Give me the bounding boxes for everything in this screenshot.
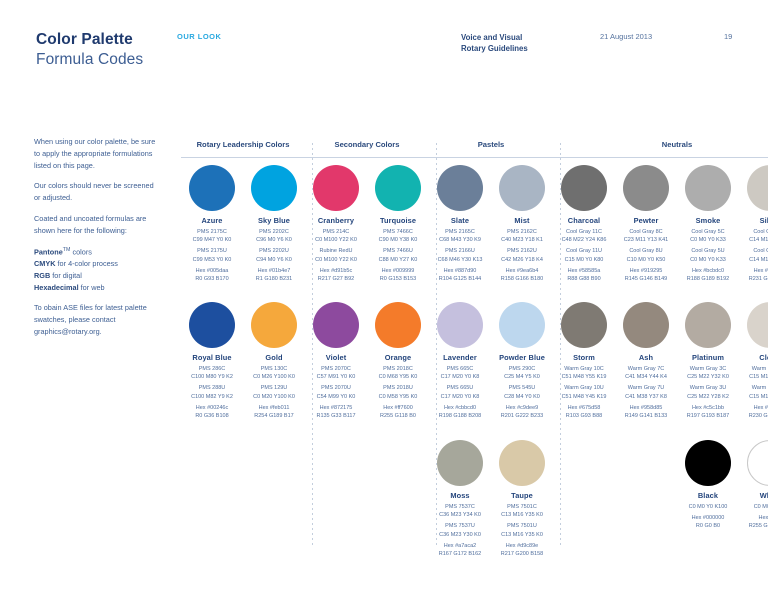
swatch-name-smoke: Smoke — [677, 216, 739, 225]
swatch-name-royal-blue: Royal Blue — [181, 353, 243, 362]
swatch-formula-line: Hex #feb011 — [243, 404, 305, 412]
swatch-name-silver: Silver — [739, 216, 768, 225]
swatch-color-circle-pewter — [623, 165, 669, 211]
swatch-formula-line: C68 M43 Y30 K9 — [429, 236, 491, 244]
swatch-formula-line: C25 M4 Y5 K0 — [491, 373, 553, 381]
swatch-formula-line: Hex #01b4e7 — [243, 267, 305, 275]
swatch-name-black: Black — [677, 491, 739, 500]
swatch-formula-line: C41 M34 Y44 K4 — [615, 373, 677, 381]
swatch-platinum: PlatinumWarm Gray 3CC25 M22 Y32 K0Warm G… — [677, 302, 739, 421]
swatch-cloud: CloudWarm Gray 1CC15 M12 Y17 K0Warm Gray… — [739, 302, 768, 421]
group-header-pastels: Pastels — [429, 140, 553, 149]
swatch-formula-line: PMS 545U — [491, 384, 553, 392]
swatch-formula-line: Warm Gray 1U — [739, 384, 768, 392]
swatch-formula-line: C100 M80 Y9 K2 — [181, 373, 243, 381]
swatch-formula-line: Hex #cbbcd0 — [429, 404, 491, 412]
swatch-formula-line: PMS 129U — [243, 384, 305, 392]
swatch-formula-line: Cool Gray 2U — [739, 247, 768, 255]
cmyk-rest: for 4-color process — [56, 259, 118, 268]
pantone-rest: colors — [70, 247, 92, 256]
swatch-formula-line: Hex #ffffff — [739, 514, 768, 522]
swatch-formula-line: R1 G180 B231 — [243, 275, 305, 283]
swatch-name-pewter: Pewter — [615, 216, 677, 225]
sidebar-paragraph-4: To obain ASE files for latest palette sw… — [34, 302, 162, 337]
swatch-name-violet: Violet — [305, 353, 367, 362]
swatch-formula-line: R197 G193 B187 — [677, 412, 739, 420]
swatch-formula-line: R217 G27 B92 — [305, 275, 367, 283]
swatch-formula-line: Hex #e6e5d8 — [739, 404, 768, 412]
group-rule — [305, 157, 429, 158]
swatch-formula-line: PMS 288U — [181, 384, 243, 392]
swatch-color-circle-sky-blue — [251, 165, 297, 211]
swatch-formula-line: C25 M22 Y28 K2 — [677, 393, 739, 401]
swatch-color-circle-mist — [499, 165, 545, 211]
swatch-formula-line: C14 M10 Y13 K0 — [739, 236, 768, 244]
swatch-formula-line: R230 G229 B216 — [739, 412, 768, 420]
swatch-formula-line: Hex #958d85 — [615, 404, 677, 412]
swatch-formula-line: C36 M23 Y34 K0 — [429, 511, 491, 519]
swatch-formula-line: C23 M11 Y13 K41 — [615, 236, 677, 244]
swatch-formula-line: PMS 7466C — [367, 228, 429, 236]
swatch-name-powder-blue: Powder Blue — [491, 353, 553, 362]
swatch-ash: AshWarm Gray 7CC41 M34 Y44 K4Warm Gray 7… — [615, 302, 677, 421]
swatch-formula-line: Hex #58585a — [553, 267, 615, 275]
swatch-formula-line: R167 G172 B162 — [429, 550, 491, 558]
swatch-formula-line: R104 G125 B144 — [429, 275, 491, 283]
swatch-color-circle-ash — [623, 302, 669, 348]
swatch-color-circle-white — [747, 440, 768, 486]
swatch-formula-line: PMS 130C — [243, 365, 305, 373]
swatch-formula-line: C96 M0 Y6 K0 — [243, 236, 305, 244]
swatch-formula-line: Warm Gray 10C — [553, 365, 615, 373]
document-reference-line1: Voice and Visual — [461, 32, 528, 43]
swatch-formula-line: C17 M20 Y0 K8 — [429, 373, 491, 381]
swatch-formula-line: C99 M53 Y0 K0 — [181, 256, 243, 264]
swatch-formula-line: Hex #c5c1bb — [677, 404, 739, 412]
swatch-formula-line: Hex #d91b5c — [305, 267, 367, 275]
swatch-name-taupe: Taupe — [491, 491, 553, 500]
swatch-formula-line: Cool Gray 8U — [615, 247, 677, 255]
swatch-formula-line: R255 G118 B0 — [367, 412, 429, 420]
swatch-formula-line: C13 M16 Y35 K0 — [491, 511, 553, 519]
swatch-formula-line: C0 M58 Y95 K0 — [367, 393, 429, 401]
swatch-formula-line: C15 M0 Y0 K80 — [553, 256, 615, 264]
swatch-formula-line: Warm Gray 1C — [739, 365, 768, 373]
swatch-formula-line: R135 G33 B117 — [305, 412, 367, 420]
swatch-formula-line: C42 M26 Y18 K4 — [491, 256, 553, 264]
swatch-formula-line: Cool Gray 5U — [677, 247, 739, 255]
swatch-formula-line: Hex #000000 — [677, 514, 739, 522]
group-header-rotary-leadership-colors: Rotary Leadership Colors — [181, 140, 305, 149]
swatch-taupe: TaupePMS 7501CC13 M16 Y35 K0PMS 7501UC13… — [491, 440, 553, 559]
swatch-name-cranberry: Cranberry — [305, 216, 367, 225]
swatch-formula-line: PMS 2175U — [181, 247, 243, 255]
swatch-smoke: SmokeCool Gray 5CC0 M0 Y0 K33Cool Gray 5… — [677, 165, 739, 284]
swatch-formula-line: R255 G255 B255 — [739, 522, 768, 530]
swatch-name-azure: Azure — [181, 216, 243, 225]
page-title-line1: Color Palette — [36, 30, 143, 50]
swatch-formula-line: C0 M0 Y0 K100 — [677, 503, 739, 511]
swatch-formula-line: PMS 2018U — [367, 384, 429, 392]
swatch-formula-line: C15 M12 Y17 K0 — [739, 373, 768, 381]
swatch-turquoise: TurquoisePMS 7466CC90 M0 Y38 K0PMS 7466U… — [367, 165, 429, 284]
swatch-formula-line: Warm Gray 3C — [677, 365, 739, 373]
swatch-formula-line: C0 M26 Y100 K0 — [243, 373, 305, 381]
group-rule — [181, 157, 305, 158]
swatch-formula-line: PMS 2202C — [243, 228, 305, 236]
swatch-azure: AzurePMS 2175CC99 M47 Y0 K0PMS 2175UC99 … — [181, 165, 243, 284]
swatch-formula-line: Hex #872175 — [305, 404, 367, 412]
swatch-formula-line: Hex #009999 — [367, 267, 429, 275]
group-header-secondary-colors: Secondary Colors — [305, 140, 429, 149]
swatch-formula-line: Cool Gray 11C — [553, 228, 615, 236]
swatch-formula-line: Warm Gray 7U — [615, 384, 677, 392]
swatch-formula-line: Warm Gray 10U — [553, 384, 615, 392]
swatch-formula-line: PMS 2202U — [243, 247, 305, 255]
swatch-formula-line: C54 M99 Y0 K0 — [305, 393, 367, 401]
sidebar-instructions: When using our color palette, be sure to… — [34, 136, 162, 347]
swatch-formula-line: C0 M20 Y100 K0 — [243, 393, 305, 401]
document-reference-line2: Rotary Guidelines — [461, 43, 528, 54]
swatch-formula-line: Hex #00246c — [181, 404, 243, 412]
swatch-formula-line: C57 M91 Y0 K0 — [305, 373, 367, 381]
swatch-formula-line: PMS 286C — [181, 365, 243, 373]
swatch-formula-line: PMS 214C — [305, 228, 367, 236]
swatch-white: WhiteC0 M0 Y0 K0Hex #ffffffR255 G255 B25… — [739, 440, 768, 531]
swatch-formula-line: Hex #887d90 — [429, 267, 491, 275]
swatch-color-circle-slate — [437, 165, 483, 211]
swatch-formula-line: C14 M10 Y16 K0 — [739, 256, 768, 264]
swatch-name-moss: Moss — [429, 491, 491, 500]
swatch-formula-line: PMS 7501U — [491, 522, 553, 530]
swatch-formula-line: R0 G0 B0 — [677, 522, 739, 530]
swatch-formula-line: C48 M22 Y24 K86 — [553, 236, 615, 244]
swatch-formula-line: R198 G188 B208 — [429, 412, 491, 420]
swatch-formula-line: C28 M4 Y0 K0 — [491, 393, 553, 401]
swatch-mist: MistPMS 2162CC40 M23 Y18 K1PMS 2162UC42 … — [491, 165, 553, 284]
swatch-formula-line: Rubine RedU — [305, 247, 367, 255]
swatch-name-platinum: Platinum — [677, 353, 739, 362]
swatch-formula-line: PMS 290C — [491, 365, 553, 373]
swatch-slate: SlatePMS 2165CC68 M43 Y30 K9PMS 2166UC68… — [429, 165, 491, 284]
swatch-formula-line: Hex #a7aca2 — [429, 542, 491, 550]
swatch-name-orange: Orange — [367, 353, 429, 362]
swatch-black: BlackC0 M0 Y0 K100Hex #000000R0 G0 B0 — [677, 440, 739, 531]
swatch-formula-line: PMS 7537C — [429, 503, 491, 511]
swatch-formula-line: C0 M68 Y95 K0 — [367, 373, 429, 381]
swatch-formula-line: Cool Gray 11U — [553, 247, 615, 255]
swatch-formula-line: PMS 2162U — [491, 247, 553, 255]
swatch-silver: SilverCool Gray 2CC14 M10 Y13 K0Cool Gra… — [739, 165, 768, 284]
swatch-formula-line: C51 M48 Y55 K19 — [553, 373, 615, 381]
swatch-formula-line: Cool Gray 5C — [677, 228, 739, 236]
swatch-formula-line: C0 M0 Y0 K33 — [677, 236, 739, 244]
document-date: 21 August 2013 — [600, 32, 652, 41]
swatch-formula-line: R231 G231 B232 — [739, 275, 768, 283]
swatch-sky-blue: Sky BluePMS 2202CC96 M0 Y6 K0PMS 2202UC9… — [243, 165, 305, 284]
swatch-formula-line: Hex #675d58 — [553, 404, 615, 412]
swatch-violet: VioletPMS 2070CC57 M91 Y0 K0PMS 2070UC54… — [305, 302, 367, 421]
swatch-color-circle-lavender — [437, 302, 483, 348]
swatch-name-lavender: Lavender — [429, 353, 491, 362]
swatch-name-sky-blue: Sky Blue — [243, 216, 305, 225]
swatch-cranberry: CranberryPMS 214CC0 M100 Y22 K0Rubine Re… — [305, 165, 367, 284]
swatch-name-slate: Slate — [429, 216, 491, 225]
swatch-color-circle-platinum — [685, 302, 731, 348]
swatch-color-circle-powder-blue — [499, 302, 545, 348]
swatch-color-circle-gold — [251, 302, 297, 348]
swatch-formula-line: C88 M0 Y27 K0 — [367, 256, 429, 264]
swatch-formula-line: C51 M48 Y45 K19 — [553, 393, 615, 401]
swatch-formula-line: C17 M20 Y0 K8 — [429, 393, 491, 401]
sidebar-paragraph-2: Our colors should never be screened or a… — [34, 180, 162, 204]
swatch-formula-line: C36 M23 Y30 K0 — [429, 531, 491, 539]
color-swatch-grid: Rotary Leadership ColorsSecondary Colors… — [174, 140, 749, 560]
swatch-formula-line: PMS 2018C — [367, 365, 429, 373]
swatch-color-circle-charcoal — [561, 165, 607, 211]
swatch-name-storm: Storm — [553, 353, 615, 362]
swatch-lavender: LavenderPMS 665CC17 M20 Y0 K8PMS 665UC17… — [429, 302, 491, 421]
sidebar-format-list: PantoneTM colors CMYK for 4-color proces… — [34, 246, 162, 294]
swatch-formula-line: PMS 2165C — [429, 228, 491, 236]
swatch-formula-line: R188 G189 B192 — [677, 275, 739, 283]
swatch-color-circle-azure — [189, 165, 235, 211]
section-label: OUR LOOK — [177, 32, 221, 41]
swatch-formula-line: C0 M100 Y22 K0 — [305, 236, 367, 244]
swatch-name-turquoise: Turquoise — [367, 216, 429, 225]
swatch-formula-line: R0 G93 B170 — [181, 275, 243, 283]
swatch-color-circle-black — [685, 440, 731, 486]
swatch-formula-line: C90 M0 Y38 K0 — [367, 236, 429, 244]
swatch-formula-line: C25 M22 Y32 K0 — [677, 373, 739, 381]
swatch-formula-line: PMS 2175C — [181, 228, 243, 236]
swatch-formula-line: PMS 2166U — [429, 247, 491, 255]
swatch-color-circle-turquoise — [375, 165, 421, 211]
swatch-formula-line: Hex #005daa — [181, 267, 243, 275]
swatch-color-circle-violet — [313, 302, 359, 348]
swatch-formula-line: C68 M46 Y30 K13 — [429, 256, 491, 264]
swatch-formula-line: Hex #bcbdc0 — [677, 267, 739, 275]
swatch-formula-line: Hex #d9c89e — [491, 542, 553, 550]
swatch-formula-line: C10 M0 Y0 K50 — [615, 256, 677, 264]
swatch-powder-blue: Powder BluePMS 290CC25 M4 Y5 K0PMS 545UC… — [491, 302, 553, 421]
swatch-color-circle-taupe — [499, 440, 545, 486]
page-title-line2: Formula Codes — [36, 50, 143, 70]
swatch-formula-line: C0 M0 Y0 K33 — [677, 256, 739, 264]
swatch-formula-line: Hex #ff7600 — [367, 404, 429, 412]
group-rule — [429, 157, 553, 158]
swatch-formula-line: C41 M38 Y37 K8 — [615, 393, 677, 401]
swatch-formula-line: C94 M0 Y6 K0 — [243, 256, 305, 264]
swatch-formula-line: PMS 7537U — [429, 522, 491, 530]
document-page: Color Palette Formula Codes OUR LOOK Voi… — [0, 0, 768, 594]
swatch-formula-line: R0 G36 B108 — [181, 412, 243, 420]
swatch-formula-line: C100 M82 Y9 K2 — [181, 393, 243, 401]
swatch-formula-line: PMS 2162C — [491, 228, 553, 236]
swatch-formula-line: C0 M100 Y22 K0 — [305, 256, 367, 264]
swatch-name-cloud: Cloud — [739, 353, 768, 362]
swatch-moss: MossPMS 7537CC36 M23 Y34 K0PMS 7537UC36 … — [429, 440, 491, 559]
swatch-formula-line: Cool Gray 8C — [615, 228, 677, 236]
swatch-formula-line: Warm Gray 7C — [615, 365, 677, 373]
group-header-neutrals: Neutrals — [553, 140, 768, 149]
swatch-formula-line: PMS 2070C — [305, 365, 367, 373]
swatch-formula-line: Cool Gray 2C — [739, 228, 768, 236]
swatch-formula-line: R217 G200 B158 — [491, 550, 553, 558]
swatch-formula-line: PMS 665C — [429, 365, 491, 373]
swatch-pewter: PewterCool Gray 8CC23 M11 Y13 K41Cool Gr… — [615, 165, 677, 284]
swatch-formula-line: R149 G141 B133 — [615, 412, 677, 420]
swatch-color-circle-orange — [375, 302, 421, 348]
hexadecimal-label: Hexadecimal — [34, 283, 79, 292]
cmyk-label: CMYK — [34, 259, 56, 268]
swatch-formula-line: PMS 7501C — [491, 503, 553, 511]
document-reference: Voice and Visual Rotary Guidelines — [461, 32, 528, 55]
swatch-charcoal: CharcoalCool Gray 11CC48 M22 Y24 K86Cool… — [553, 165, 615, 284]
swatch-formula-line: R88 G88 B90 — [553, 275, 615, 283]
swatch-royal-blue: Royal BluePMS 286CC100 M80 Y9 K2PMS 288U… — [181, 302, 243, 421]
pantone-label: Pantone — [34, 247, 63, 256]
swatch-formula-line: PMS 665U — [429, 384, 491, 392]
rgb-label: RGB — [34, 271, 50, 280]
swatch-formula-line: Warm Gray 3U — [677, 384, 739, 392]
swatch-formula-line: C40 M23 Y18 K1 — [491, 236, 553, 244]
swatch-formula-line: Hex #e7e7e8 — [739, 267, 768, 275]
swatch-color-circle-storm — [561, 302, 607, 348]
swatch-formula-line: R145 G146 B149 — [615, 275, 677, 283]
swatch-formula-line: R201 G222 B233 — [491, 412, 553, 420]
swatch-name-gold: Gold — [243, 353, 305, 362]
group-rule — [553, 157, 768, 158]
swatch-formula-line: PMS 2070U — [305, 384, 367, 392]
swatch-name-ash: Ash — [615, 353, 677, 362]
swatch-formula-line: R0 G153 B153 — [367, 275, 429, 283]
swatch-formula-line: Hex #c9dee9 — [491, 404, 553, 412]
swatch-formula-line: C15 M12 Y17 K0 — [739, 393, 768, 401]
page-number: 19 — [724, 32, 732, 41]
swatch-orange: OrangePMS 2018CC0 M68 Y95 K0PMS 2018UC0 … — [367, 302, 429, 421]
swatch-color-circle-royal-blue — [189, 302, 235, 348]
swatch-name-white: White — [739, 491, 768, 500]
swatch-gold: GoldPMS 130CC0 M26 Y100 K0PMS 129UC0 M20… — [243, 302, 305, 421]
swatch-formula-line: C0 M0 Y0 K0 — [739, 503, 768, 511]
swatch-formula-line: Hex #9ea6b4 — [491, 267, 553, 275]
swatch-formula-line: C99 M47 Y0 K0 — [181, 236, 243, 244]
sidebar-paragraph-1: When using our color palette, be sure to… — [34, 136, 162, 171]
swatch-formula-line: R158 G166 B180 — [491, 275, 553, 283]
swatch-formula-line: R254 G189 B17 — [243, 412, 305, 420]
swatch-storm: StormWarm Gray 10CC51 M48 Y55 K19Warm Gr… — [553, 302, 615, 421]
swatch-formula-line: PMS 7466U — [367, 247, 429, 255]
hexadecimal-rest: for web — [79, 283, 105, 292]
swatch-color-circle-cranberry — [313, 165, 359, 211]
swatch-color-circle-cloud — [747, 302, 768, 348]
sidebar-paragraph-3: Coated and uncoated formulas are shown h… — [34, 213, 162, 237]
swatch-formula-line: R103 G93 B88 — [553, 412, 615, 420]
swatch-color-circle-moss — [437, 440, 483, 486]
rgb-rest: for digital — [50, 271, 82, 280]
swatch-name-mist: Mist — [491, 216, 553, 225]
swatch-formula-line: Hex #919295 — [615, 267, 677, 275]
swatch-color-circle-silver — [747, 165, 768, 211]
swatch-color-circle-smoke — [685, 165, 731, 211]
swatch-name-charcoal: Charcoal — [553, 216, 615, 225]
swatch-formula-line: C13 M16 Y35 K0 — [491, 531, 553, 539]
page-title: Color Palette Formula Codes — [36, 30, 143, 70]
